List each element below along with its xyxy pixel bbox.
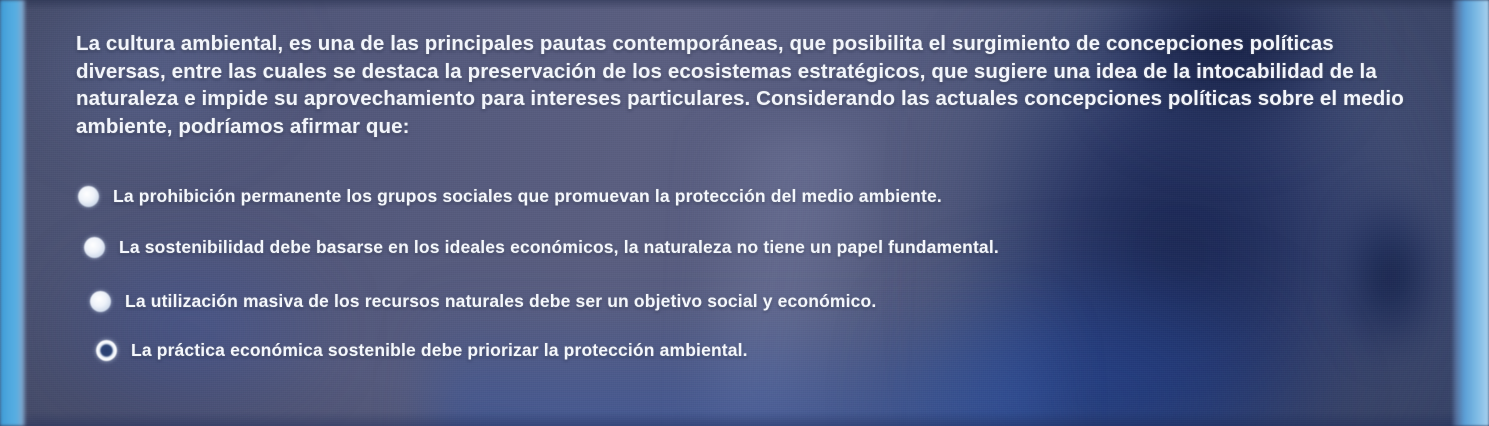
answer-option-label-0: La prohibición permanente los grupos soc… <box>113 186 942 207</box>
answer-option-2[interactable]: La utilización masiva de los recursos na… <box>90 291 876 312</box>
screen-photo-frame: La cultura ambiental, es una de las prin… <box>0 0 1489 426</box>
radio-button-icon-0[interactable] <box>78 186 99 207</box>
answer-option-1[interactable]: La sostenibilidad debe basarse en los id… <box>84 237 999 258</box>
radio-button-icon-1[interactable] <box>84 237 105 258</box>
answer-option-label-1: La sostenibilidad debe basarse en los id… <box>119 237 999 258</box>
radio-button-icon-3[interactable] <box>96 340 117 361</box>
radio-button-icon-2[interactable] <box>90 291 111 312</box>
question-prompt: La cultura ambiental, es una de las prin… <box>76 30 1406 140</box>
answer-option-label-2: La utilización masiva de los recursos na… <box>125 291 876 312</box>
answer-option-3[interactable]: La práctica económica sostenible debe pr… <box>96 340 748 361</box>
quiz-content: La cultura ambiental, es una de las prin… <box>0 0 1489 426</box>
answer-option-label-3: La práctica económica sostenible debe pr… <box>131 340 748 361</box>
answer-option-0[interactable]: La prohibición permanente los grupos soc… <box>78 186 942 207</box>
